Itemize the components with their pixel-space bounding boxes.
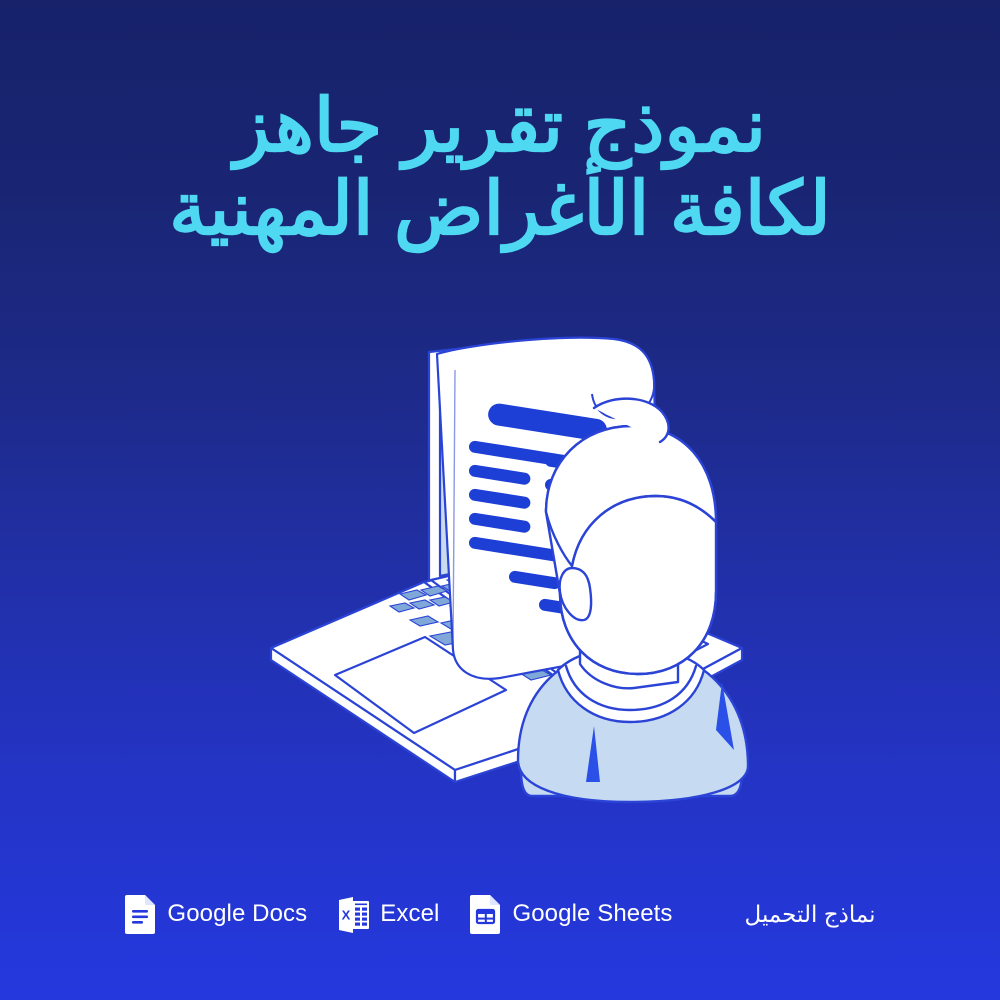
- google-sheets-icon: [469, 894, 503, 934]
- download-formats-bar: Google Docs: [0, 886, 1000, 942]
- hero-illustration: [0, 330, 1000, 830]
- poster-canvas: نموذج تقرير جاهز لكافة الأغراض المهنية: [0, 0, 1000, 1000]
- excel-icon: X: [337, 894, 371, 934]
- svg-text:X: X: [342, 908, 351, 923]
- format-label-google-sheets: Google Sheets: [512, 900, 672, 928]
- format-item-google-sheets[interactable]: Google Sheets: [469, 894, 672, 934]
- format-label-excel: Excel: [380, 900, 439, 928]
- headline-line-2: لكافة الأغراض المهنية: [0, 171, 1000, 246]
- google-docs-icon: [124, 894, 158, 934]
- download-templates-label: نماذج التحميل: [745, 901, 876, 928]
- page-title: نموذج تقرير جاهز لكافة الأغراض المهنية: [0, 88, 1000, 247]
- headline-line-1: نموذج تقرير جاهز: [0, 88, 1000, 163]
- format-item-google-docs[interactable]: Google Docs: [124, 894, 307, 934]
- format-label-google-docs: Google Docs: [167, 900, 307, 928]
- format-item-excel[interactable]: X Excel: [337, 894, 439, 934]
